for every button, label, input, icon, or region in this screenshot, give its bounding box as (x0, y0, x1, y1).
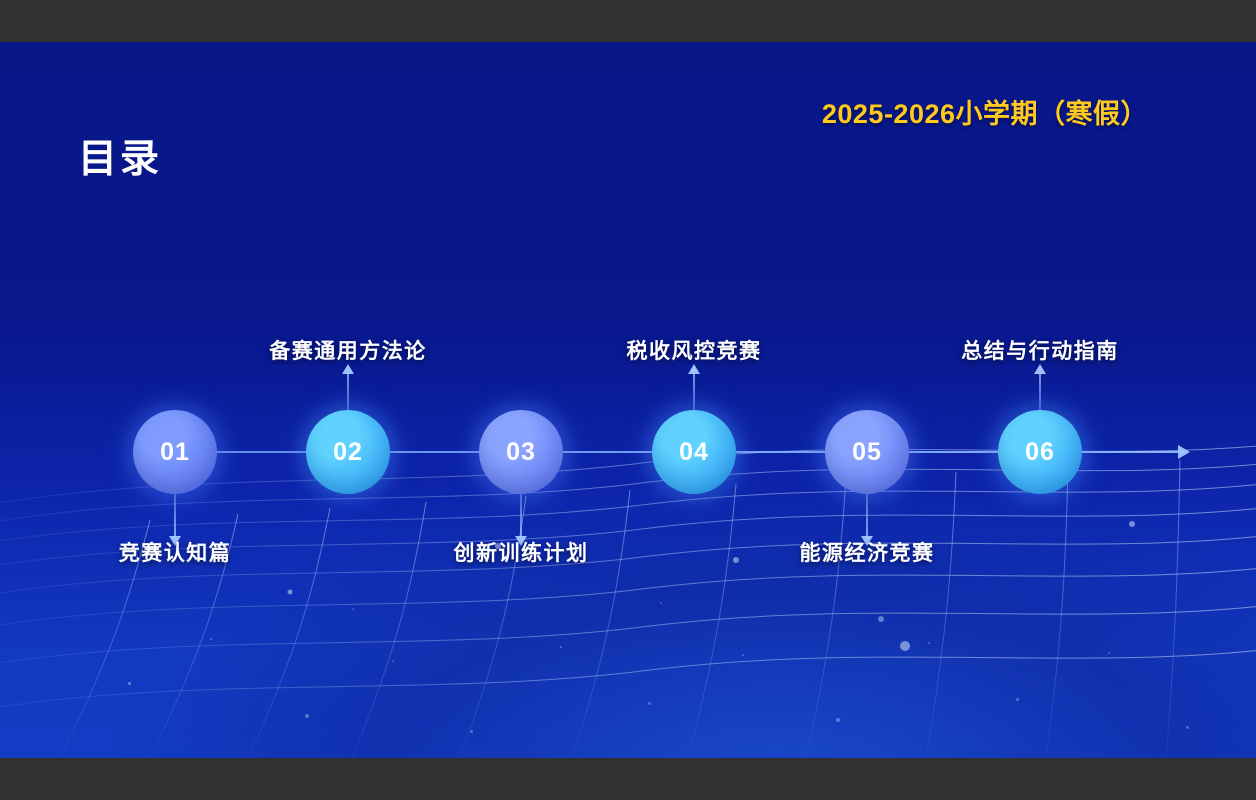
timeline-node-label[interactable]: 能源经济竞赛 (800, 537, 935, 567)
timeline-node-01[interactable]: 01 (133, 410, 217, 494)
timeline-node-label[interactable]: 总结与行动指南 (961, 335, 1119, 365)
timeline-node-03[interactable]: 03 (479, 410, 563, 494)
presentation-viewer: 2025-2026小学期（寒假） 目录 01竞赛认知篇02备赛通用方法论03创新… (0, 0, 1256, 800)
timeline-node-label[interactable]: 备赛通用方法论 (269, 335, 427, 365)
timeline-node-06[interactable]: 06 (998, 410, 1082, 494)
timeline-node-04[interactable]: 04 (652, 410, 736, 494)
timeline-node-number: 03 (506, 438, 536, 467)
timeline-connector (866, 488, 868, 538)
timeline-node-05[interactable]: 05 (825, 410, 909, 494)
slide-canvas: 2025-2026小学期（寒假） 目录 01竞赛认知篇02备赛通用方法论03创新… (0, 42, 1256, 758)
timeline-node-02[interactable]: 02 (306, 410, 390, 494)
timeline-node-number: 04 (679, 438, 709, 467)
timeline-node-number: 02 (333, 438, 363, 467)
timeline-node-number: 01 (160, 438, 190, 467)
timeline-node-number: 05 (852, 438, 882, 467)
timeline-connector (174, 488, 176, 538)
timeline-connector-arrow-icon (688, 364, 700, 374)
timeline-node-label[interactable]: 税收风控竞赛 (627, 335, 762, 365)
viewer-bottom-bar (0, 758, 1256, 800)
viewer-top-bar (0, 0, 1256, 42)
timeline-arrow-icon (1178, 445, 1190, 459)
timeline-node-label[interactable]: 竞赛认知篇 (119, 537, 232, 567)
timeline-connector (520, 488, 522, 538)
timeline-connector-arrow-icon (1034, 364, 1046, 374)
timeline-node-label[interactable]: 创新训练计划 (454, 537, 589, 567)
timeline: 01竞赛认知篇02备赛通用方法论03创新训练计划04税收风控竞赛05能源经济竞赛… (0, 42, 1256, 758)
timeline-connector-arrow-icon (342, 364, 354, 374)
timeline-node-number: 06 (1025, 438, 1055, 467)
